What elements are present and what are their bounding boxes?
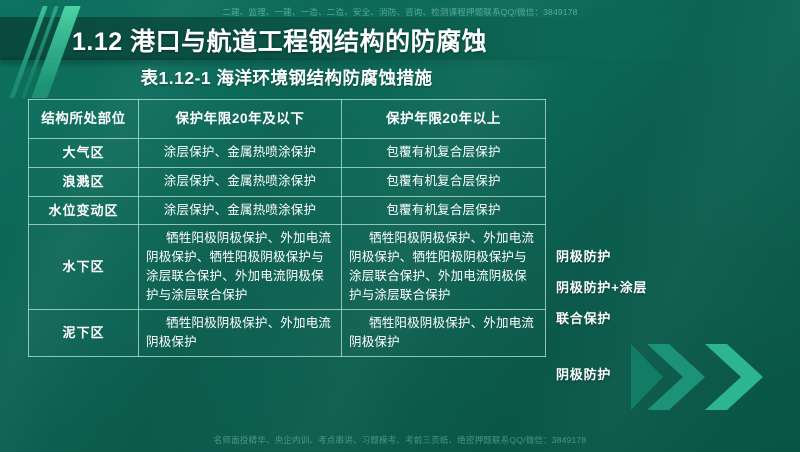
cell-zone: 水位变动区: [29, 196, 139, 225]
column-header-zone: 结构所处部位: [29, 100, 139, 139]
annotation-underwater-line3: 联合保护: [556, 312, 611, 325]
cell-under20: 涂层保护、金属热喷涂保护: [139, 196, 342, 225]
cell-under20: 涂层保护、金属热喷涂保护: [139, 167, 342, 196]
cell-zone: 浪溅区: [29, 167, 139, 196]
cell-zone: 水下区: [29, 225, 139, 310]
watermark-top: 二建、监理、一建、一造、二造、安全、消防、咨询、检测课程押题联系QQ/微信：38…: [0, 6, 800, 18]
table-row: 水下区 牺牲阳极阴极保护、外加电流阴极保护、牺牲阳极阴极保护与涂层联合保护、外加…: [29, 225, 546, 310]
cell-under20: 牺牲阳极阴极保护、外加电流阴极保护: [139, 310, 342, 357]
cell-under20: 涂层保护、金属热喷涂保护: [139, 139, 342, 168]
cell-zone: 大气区: [29, 139, 139, 168]
annotation-underwater-line2: 阴极防护+涂层: [556, 281, 647, 294]
watermark-bottom: 名师面授精华、央企内训、考点串讲、习题模考、考前三页纸、绝密押题联系QQ/微信：…: [0, 434, 800, 446]
slide-title: 1.12 港口与航道工程钢结构的防腐蚀: [72, 22, 487, 58]
cell-over20: 包覆有机复合层保护: [342, 167, 546, 196]
annotation-mud-line1: 阴极防护: [556, 368, 611, 381]
chevron-icon-group: [631, 344, 763, 410]
table-header-row: 结构所处部位 保护年限20年及以下 保护年限20年以上: [29, 100, 546, 139]
presentation-slide: 二建、监理、一建、一造、二造、安全、消防、咨询、检测课程押题联系QQ/微信：38…: [0, 0, 800, 452]
annotation-underwater-line1: 阴极防护: [556, 250, 611, 263]
cell-over20: 包覆有机复合层保护: [342, 139, 546, 168]
corrosion-protection-table: 结构所处部位 保护年限20年及以下 保护年限20年以上 大气区 涂层保护、金属热…: [28, 99, 546, 357]
column-header-over20: 保护年限20年以上: [342, 100, 546, 139]
cell-under20: 牺牲阳极阴极保护、外加电流阴极保护、牺牲阳极阴极保护与涂层联合保护、外加电流阴极…: [139, 225, 342, 310]
cell-over20: 牺牲阳极阴极保护、外加电流阴极保护、牺牲阳极阴极保护与涂层联合保护、外加电流阴极…: [342, 225, 546, 310]
table-row: 大气区 涂层保护、金属热喷涂保护 包覆有机复合层保护: [29, 139, 546, 168]
chevron-icon-2: [647, 344, 705, 410]
table-container: 结构所处部位 保护年限20年及以下 保护年限20年以上 大气区 涂层保护、金属热…: [28, 99, 545, 357]
cell-zone: 泥下区: [29, 310, 139, 357]
title-band-shadow: [0, 58, 660, 65]
cell-over20: 牺牲阳极阴极保护、外加电流阴极保护: [342, 310, 546, 357]
cell-over20: 包覆有机复合层保护: [342, 196, 546, 225]
table-row: 水位变动区 涂层保护、金属热喷涂保护 包覆有机复合层保护: [29, 196, 546, 225]
column-header-under20: 保护年限20年及以下: [139, 100, 342, 139]
chevron-icon-1: [631, 344, 663, 410]
chevron-icon-3: [705, 344, 763, 410]
table-row: 泥下区 牺牲阳极阴极保护、外加电流阴极保护 牺牲阳极阴极保护、外加电流阴极保护: [29, 310, 546, 357]
chevron-arrows-decoration: [629, 340, 794, 414]
table-row: 浪溅区 涂层保护、金属热喷涂保护 包覆有机复合层保护: [29, 167, 546, 196]
table-caption: 表1.12-1 海洋环境钢结构防腐蚀措施: [28, 65, 545, 90]
